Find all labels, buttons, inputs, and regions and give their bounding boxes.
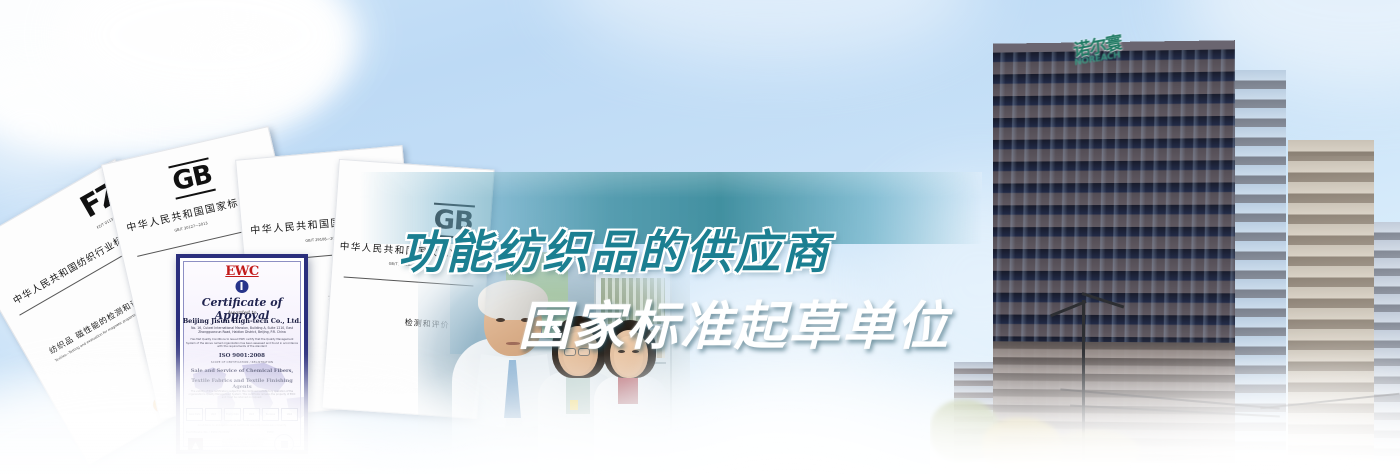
certificate-company-name: Beijing Jisun High-tech Co., Ltd.	[180, 317, 304, 325]
ewc-brand-mark: EWC	[180, 264, 304, 279]
headline-line-1: 功能纺织品的供应商	[398, 216, 830, 282]
headline-line-2: 国家标准起草单位	[518, 284, 950, 359]
anchor-emblem-icon	[236, 280, 249, 293]
certificate-address: No. 16, Cuiwei International Mansion, Bu…	[184, 326, 300, 334]
awarded-to-label: Awarded to	[180, 310, 304, 316]
cloud-shape	[170, 10, 310, 90]
certificate-legal-text: Has Met Quality Conditions to Issued EWC…	[186, 338, 298, 349]
bottom-haze	[0, 354, 1400, 474]
promo-banner: 诺尔寰 NOREACH FZ FZ/T 01136—2013 中华人民共和国纺织…	[0, 0, 1400, 474]
headline-group: 功能纺织品的供应商 国家标准起草单位	[0, 104, 1000, 254]
